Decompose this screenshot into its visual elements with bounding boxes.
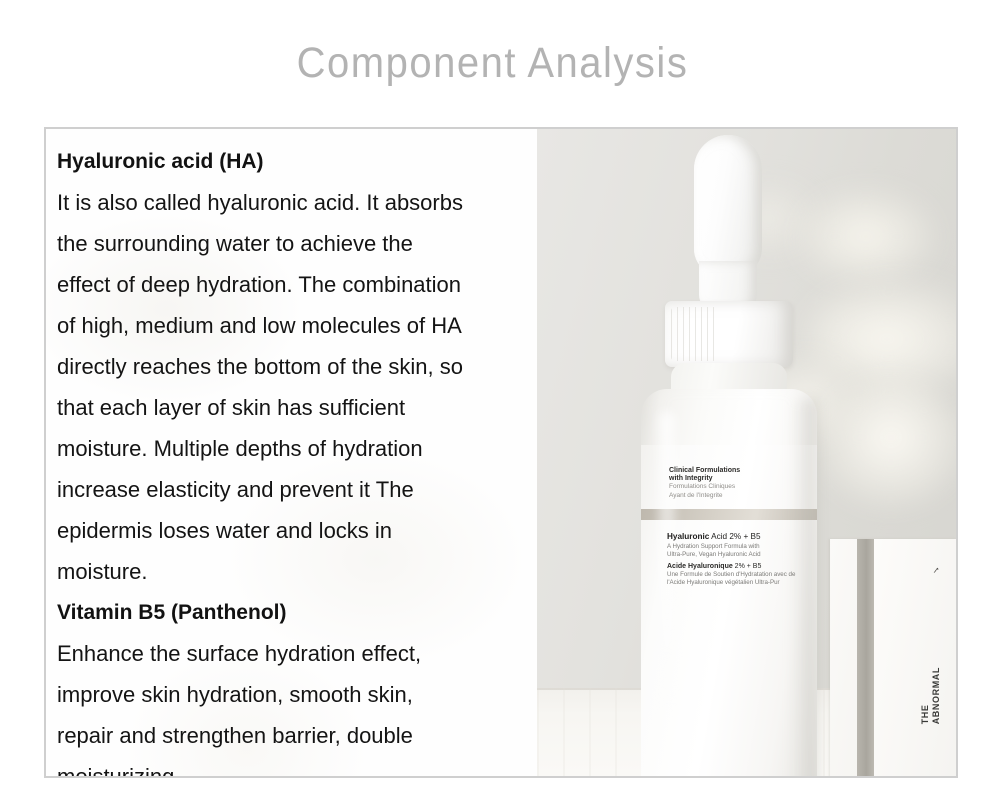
body-line: epidermis loses water and locks in [57, 510, 527, 551]
flower-bokeh-icon [796, 189, 936, 284]
label-product-name-fr-rest: 2% + B5 [733, 563, 762, 570]
box-brand-line-1: THE [920, 704, 930, 724]
label-product-name: Hyaluronic Acid 2% + B5 [667, 533, 797, 541]
ingredient-section-ha: Hyaluronic acid (HA) It is also called h… [57, 141, 527, 592]
body-line: effect of deep hydration. The combinatio… [57, 264, 527, 305]
section-heading-ha: Hyaluronic acid (HA) [57, 141, 527, 182]
label-product-name-fr: Acide Hyaluronique 2% + B5 [667, 563, 797, 571]
section-heading-b5: Vitamin B5 (Panthenol) [57, 592, 527, 633]
body-line: moisture. Multiple depths of hydration [57, 428, 527, 469]
label-desc-fr-line-1: Une Formule de Soutien d'Hydratation ave… [667, 571, 797, 579]
label-top-line-1: Clinical Formulations [669, 467, 789, 475]
label-product-name-bold: Hyaluronic [667, 532, 709, 541]
body-line: It is also called hyaluronic acid. It ab… [57, 182, 527, 223]
label-product-name-rest: Acid 2% + B5 [709, 532, 760, 541]
label-top-text: Clinical Formulations with Integrity For… [669, 467, 789, 500]
flower-bokeh-icon [806, 279, 956, 399]
glass-shading [791, 399, 817, 776]
label-main-text: Hyaluronic Acid 2% + B5 A Hydration Supp… [667, 533, 797, 587]
page-title: Component Analysis [297, 40, 689, 88]
body-line: that each layer of skin has sufficient [57, 387, 527, 428]
section-body-ha: It is also called hyaluronic acid. It ab… [57, 182, 527, 592]
label-product-name-fr-bold: Acide Hyaluronique [667, 563, 733, 570]
body-line: directly reaches the bottom of the skin,… [57, 346, 527, 387]
box-brand-line-2: ABNORMAL [931, 667, 941, 724]
body-line: of high, medium and low molecules of HA [57, 305, 527, 346]
label-desc-line-2: Ultra-Pure, Vegan Hyaluronic Acid [667, 551, 797, 559]
label-desc-fr-line-2: l'Acide Hyaluronique végétalien Ultra-Pu… [667, 579, 797, 587]
label-top-line-2: with Integrity [669, 475, 789, 483]
body-line: moisture. [57, 551, 527, 592]
product-photo: ✓ THE ABNORMAL Clinical Formulations wit… [537, 129, 956, 776]
dropper-bulb [694, 135, 762, 275]
label-top-line-4: Ayant de l'Integrite [669, 492, 789, 500]
body-line: improve skin hydration, smooth skin, [57, 674, 527, 715]
box-brand-text: THE ABNORMAL [920, 667, 942, 724]
body-line: increase elasticity and prevent it The [57, 469, 527, 510]
ingredient-text-column: Hyaluronic acid (HA) It is also called h… [46, 129, 537, 776]
ingredient-section-b5: Vitamin B5 (Panthenol) Enhance the surfa… [57, 592, 527, 778]
product-box: ✓ THE ABNORMAL [830, 539, 956, 776]
body-line: repair and strengthen barrier, double [57, 715, 527, 756]
section-body-b5: Enhance the surface hydration effect, im… [57, 633, 527, 778]
flower-bokeh-icon [816, 379, 956, 509]
body-line: moisturizing. [57, 756, 527, 778]
body-line: the surrounding water to achieve the [57, 223, 527, 264]
cap-ribs [671, 307, 717, 361]
label-desc-line-1: A Hydration Support Formula with [667, 543, 797, 551]
box-check-icon: ✓ [930, 563, 940, 574]
box-front-face [874, 539, 956, 776]
box-spine [857, 539, 874, 776]
body-line: Enhance the surface hydration effect, [57, 633, 527, 674]
label-top-line-3: Formulations Cliniques [669, 483, 789, 491]
page-header: Component Analysis [0, 0, 985, 127]
component-analysis-panel: Hyaluronic acid (HA) It is also called h… [44, 127, 958, 778]
